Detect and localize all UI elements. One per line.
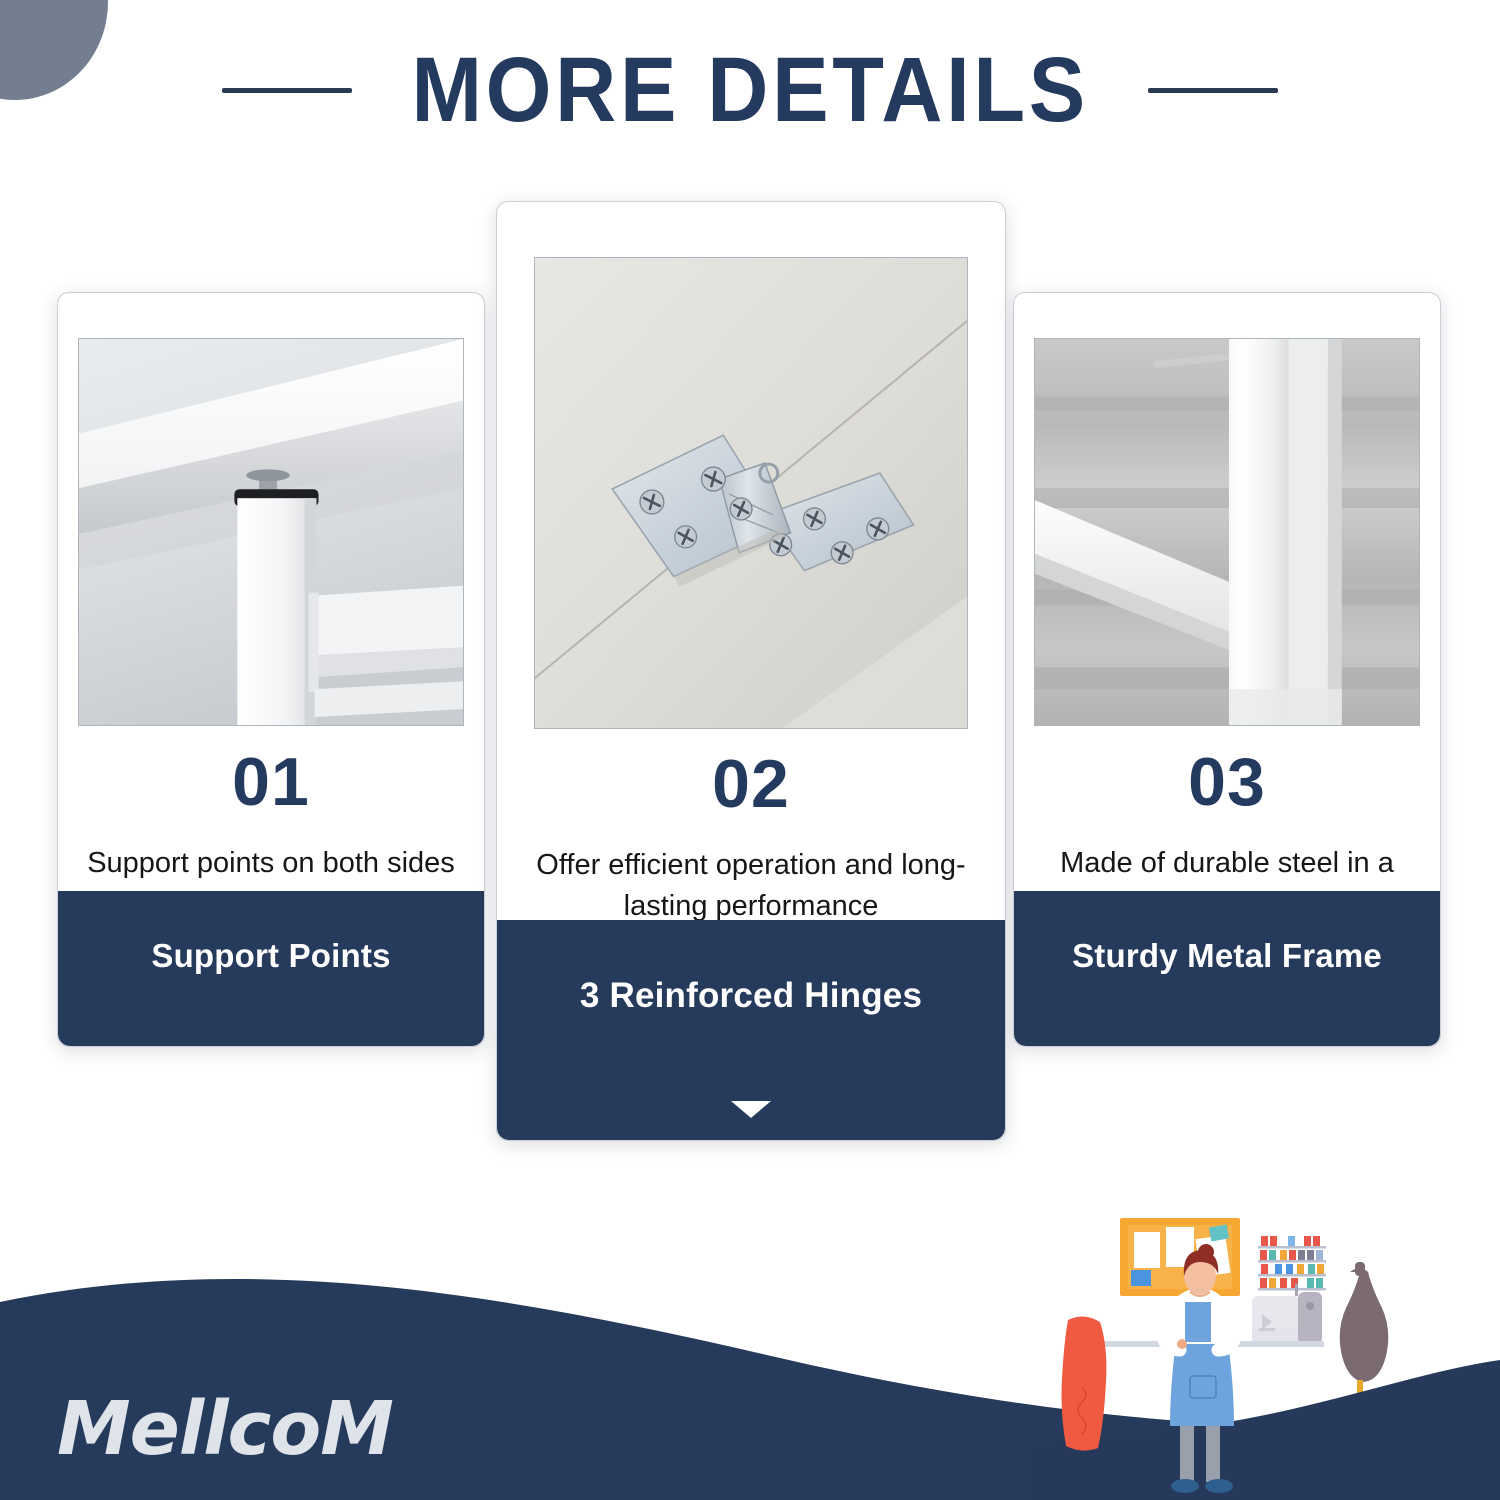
infographic-page: MORE DETAILS — [0, 0, 1500, 1500]
card-footer-01: Support Points — [58, 891, 484, 1046]
footer-curve-01 — [57, 994, 485, 1047]
feature-card-02[interactable]: 02 Offer efficient operation and long-la… — [496, 201, 1006, 1141]
thread-spool-shelf — [1258, 1236, 1326, 1291]
card-number-03: 03 — [1014, 748, 1440, 816]
card-footer-label-01: Support Points — [58, 937, 484, 975]
card-photo-support-point — [78, 338, 464, 726]
card-photo-hinge — [534, 257, 968, 729]
card-footer-label-02: 3 Reinforced Hinges — [497, 976, 1005, 1016]
card-footer-02: 3 Reinforced Hinges — [497, 920, 1005, 1140]
feature-card-01[interactable]: 01 Support points on both sides are used… — [57, 292, 485, 1047]
sewing-machine — [1252, 1284, 1322, 1344]
card-footer-03: Sturdy Metal Frame — [1014, 891, 1440, 1046]
red-fabric — [1062, 1316, 1107, 1450]
brand-logo: MellcoM — [57, 1386, 393, 1472]
bulletin-board — [1120, 1218, 1240, 1296]
card-number-02: 02 — [497, 750, 1005, 818]
card-photo-metal-frame — [1034, 338, 1420, 726]
card-number-01: 01 — [58, 748, 484, 816]
feature-card-03[interactable]: 03 Made of durable steel in a white fini… — [1013, 292, 1441, 1047]
card-description-02: Offer efficient operation and long-lasti… — [523, 845, 979, 927]
feature-card-row: 01 Support points on both sides are used… — [0, 0, 1500, 1250]
footer-curve-03 — [1013, 994, 1441, 1047]
card-footer-label-03: Sturdy Metal Frame — [1014, 937, 1440, 975]
sewing-workshop-illustration — [1030, 1210, 1500, 1500]
chevron-down-icon[interactable] — [731, 1101, 771, 1118]
